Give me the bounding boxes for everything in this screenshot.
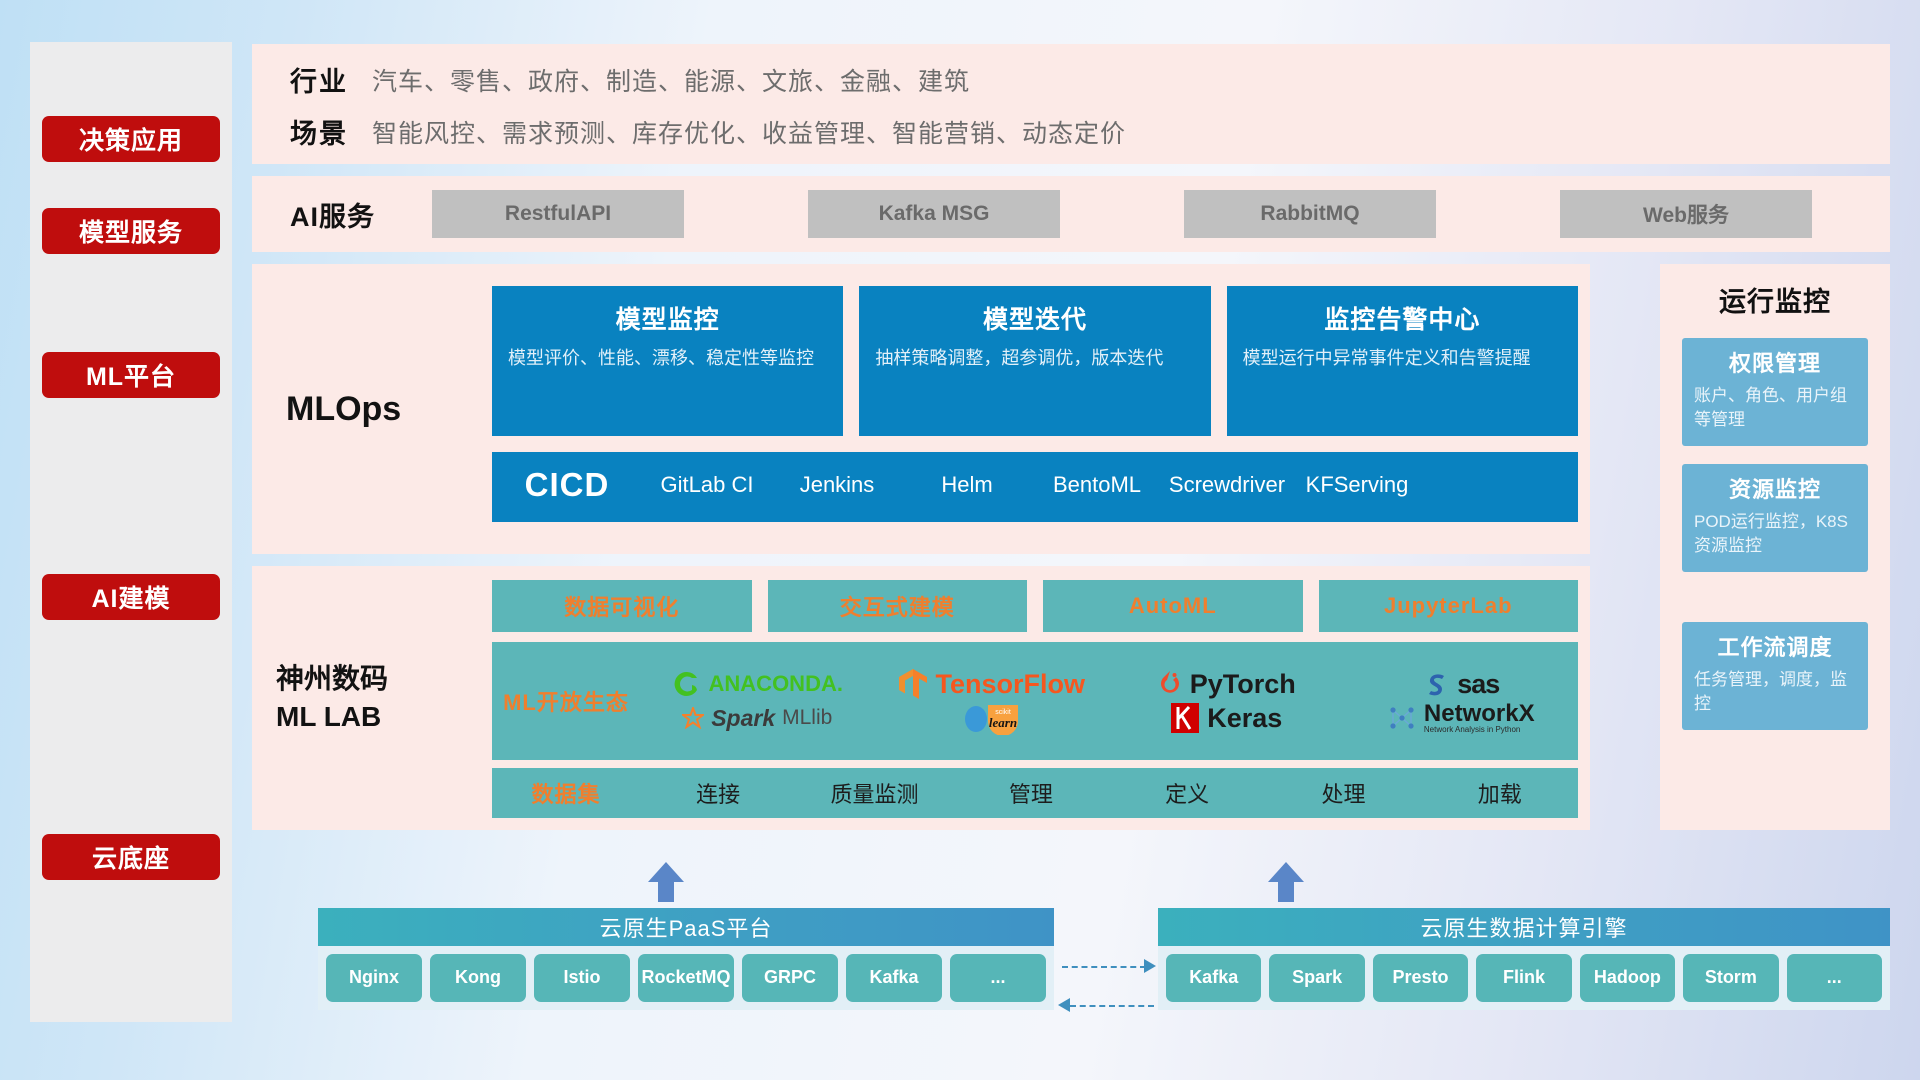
dataset-item-define[interactable]: 定义 [1109,777,1265,809]
industry-row: 行业 汽车、零售、政府、制造、能源、文旅、金融、建筑 [252,60,970,99]
dashed-arrow-head-right [1144,959,1156,973]
dataset-item-quality[interactable]: 质量监测 [796,777,952,809]
tensorflow-logo-text: TensorFlow [935,669,1085,700]
card-title: 模型监控 [508,300,827,336]
svg-text:learn: learn [989,715,1017,730]
card-title: 资源监控 [1694,472,1856,504]
rail-item-model-service[interactable]: 模型服务 [42,208,220,254]
pytorch-logo: PyTorch [1109,669,1344,700]
anaconda-icon [672,669,702,699]
mllib-logo-text: MLlib [782,706,832,730]
runtime-monitoring-title: 运行监控 [1660,264,1890,319]
cloud-chip-kafka[interactable]: Kafka [846,954,942,1002]
data-chip-storm[interactable]: Storm [1683,954,1778,1002]
networkx-logo-text: NetworkX [1424,701,1535,726]
cloud-chip-grpc[interactable]: GRPC [742,954,838,1002]
mlops-label: MLOps [286,264,401,554]
card-title: 权限管理 [1694,346,1856,378]
pytorch-logo-text: PyTorch [1190,669,1296,700]
cloud-data-engine-chip-list: Kafka Spark Presto Flink Hadoop Storm ..… [1158,946,1890,1010]
cloud-chip-rocketmq[interactable]: RocketMQ [638,954,734,1002]
cicd-item-helm[interactable]: Helm [902,452,1032,500]
cloud-paas-chip-list: Nginx Kong Istio RocketMQ GRPC Kafka ... [318,946,1054,1010]
cicd-item-kfserving[interactable]: KFServing [1292,452,1422,500]
cicd-item-bentoml[interactable]: BentoML [1032,452,1162,500]
cloud-chip-istio[interactable]: Istio [534,954,630,1002]
ai-chip-restfulapi[interactable]: RestfulAPI [432,190,684,238]
pytorch-icon [1157,669,1183,699]
dashed-connector-right [1062,966,1146,968]
ml-lab-label: 神州数码 ML LAB [276,566,388,830]
anaconda-logo: ANACONDA. [640,669,875,699]
data-chip-hadoop[interactable]: Hadoop [1580,954,1675,1002]
rail-item-label: 决策应用 [79,121,183,157]
dashed-connector-left [1070,1005,1154,1007]
cicd-row: CICD GitLab CI Jenkins Helm BentoML Scre… [492,452,1578,522]
arrow-shaft [658,876,674,902]
dataset-item-connect[interactable]: 连接 [640,777,796,809]
card-title: 模型迭代 [875,300,1194,336]
cloud-chip-nginx[interactable]: Nginx [326,954,422,1002]
sas-icon [1422,670,1450,698]
cicd-heading: CICD [492,452,642,504]
card-desc: 模型评价、性能、漂移、稳定性等监控 [508,346,827,372]
ml-open-ecosystem-row: ML开放生态 ANACONDA. TensorFlow [492,642,1578,760]
card-desc: POD运行监控，K8S资源监控 [1694,510,1856,558]
cicd-item-screwdriver[interactable]: Screwdriver [1162,452,1292,500]
scenario-row: 场景 智能风控、需求预测、库存优化、收益管理、智能营销、动态定价 [252,112,1126,151]
ml-open-ecosystem-label: ML开放生态 [492,685,640,717]
monitor-card-workflow[interactable]: 工作流调度 任务管理，调度，监控 [1682,622,1868,730]
networkx-icon [1387,704,1417,732]
tensorflow-logo: TensorFlow [875,668,1110,700]
ai-service-chip-list: RestfulAPI Kafka MSG RabbitMQ Web服务 [432,190,1876,238]
cicd-item-gitlab-ci[interactable]: GitLab CI [642,452,772,500]
keras-logo: Keras [1109,702,1344,734]
up-arrow-data-engine [1268,862,1304,908]
lab-tab-jupyterlab[interactable]: JupyterLab [1319,580,1579,632]
data-chip-presto[interactable]: Presto [1373,954,1468,1002]
lab-tab-interactive-modeling[interactable]: 交互式建模 [768,580,1028,632]
ai-chip-kafka-msg[interactable]: Kafka MSG [808,190,1060,238]
industry-value: 汽车、零售、政府、制造、能源、文旅、金融、建筑 [372,62,970,98]
lab-tab-data-visualization[interactable]: 数据可视化 [492,580,752,632]
sas-logo-text: sas [1457,669,1499,700]
keras-icon [1170,702,1200,734]
cloud-paas-title: 云原生PaaS平台 [318,908,1054,946]
decision-apps-band: 行业 汽车、零售、政府、制造、能源、文旅、金融、建筑 场景 智能风控、需求预测、… [252,44,1890,164]
scenario-value: 智能风控、需求预测、库存优化、收益管理、智能营销、动态定价 [372,114,1126,150]
keras-logo-text: Keras [1207,703,1282,734]
rail-item-ai-modeling[interactable]: AI建模 [42,574,220,620]
cicd-item-jenkins[interactable]: Jenkins [772,452,902,500]
cloud-chip-kong[interactable]: Kong [430,954,526,1002]
rail-item-decision-apps[interactable]: 决策应用 [42,116,220,162]
ml-lab-label-line1: 神州数码 [276,660,388,698]
card-desc: 抽样策略调整，超参调优，版本迭代 [875,346,1194,372]
mlops-band: MLOps 模型监控 模型评价、性能、漂移、稳定性等监控 模型迭代 抽样策略调整… [252,264,1590,554]
ai-service-label: AI服务 [290,176,375,252]
card-title: 监控告警中心 [1243,300,1562,336]
monitor-card-permission[interactable]: 权限管理 账户、角色、用户组等管理 [1682,338,1868,446]
monitor-card-resource[interactable]: 资源监控 POD运行监控，K8S资源监控 [1682,464,1868,572]
spark-mllib-logo: Spark MLlib [640,705,875,732]
lab-tab-automl[interactable]: AutoML [1043,580,1303,632]
cloud-native-data-engine-group: 云原生数据计算引擎 Kafka Spark Presto Flink Hadoo… [1158,908,1890,1010]
cloud-data-engine-title: 云原生数据计算引擎 [1158,908,1890,946]
card-desc: 账户、角色、用户组等管理 [1694,384,1856,432]
left-layer-rail: 决策应用 模型服务 ML平台 AI建模 云底座 [30,42,232,1022]
dataset-item-list: 连接 质量监测 管理 定义 处理 加载 [640,777,1578,809]
up-arrow-paas [648,862,684,908]
rail-item-cloud-base[interactable]: 云底座 [42,834,220,880]
rail-item-label: 模型服务 [79,213,183,249]
scikit-learn-logo: scikit learn [875,701,1110,735]
ai-chip-web-service[interactable]: Web服务 [1560,190,1812,238]
mlops-card-alert-center[interactable]: 监控告警中心 模型运行中异常事件定义和告警提醒 [1227,286,1578,436]
dataset-item-manage[interactable]: 管理 [953,777,1109,809]
data-chip-spark[interactable]: Spark [1269,954,1364,1002]
runtime-monitoring-band: 运行监控 权限管理 账户、角色、用户组等管理 资源监控 POD运行监控，K8S资… [1660,264,1890,830]
scikit-learn-icon: scikit learn [962,701,1022,735]
dataset-row: 数据集 连接 质量监测 管理 定义 处理 加载 [492,768,1578,818]
ml-lab-tab-list: 数据可视化 交互式建模 AutoML JupyterLab [492,580,1578,632]
cloud-chip-more[interactable]: ... [950,954,1046,1002]
mlops-card-model-monitoring[interactable]: 模型监控 模型评价、性能、漂移、稳定性等监控 [492,286,843,436]
rail-item-label: ML平台 [86,357,176,393]
data-chip-kafka[interactable]: Kafka [1166,954,1261,1002]
sas-logo: sas [1344,669,1579,700]
tensorflow-icon [898,668,928,700]
mlops-card-list: 模型监控 模型评价、性能、漂移、稳定性等监控 模型迭代 抽样策略调整，超参调优，… [492,286,1578,436]
mlops-card-model-iteration[interactable]: 模型迭代 抽样策略调整，超参调优，版本迭代 [859,286,1210,436]
ml-lab-band: 神州数码 ML LAB 数据可视化 交互式建模 AutoML JupyterLa… [252,566,1590,830]
dataset-item-process[interactable]: 处理 [1265,777,1421,809]
networkx-logo-tagline: Network Analysis in Python [1424,726,1535,734]
card-desc: 模型运行中异常事件定义和告警提醒 [1243,346,1562,372]
data-chip-flink[interactable]: Flink [1476,954,1571,1002]
rail-item-label: AI建模 [91,579,170,615]
ecosystem-logo-grid: ANACONDA. TensorFlow PyTorch [640,667,1578,735]
card-title: 工作流调度 [1694,630,1856,662]
networkx-logo: NetworkX Network Analysis in Python [1344,701,1579,735]
scenario-key: 场景 [252,112,372,151]
rail-item-label: 云底座 [92,839,170,875]
rail-item-ml-platform[interactable]: ML平台 [42,352,220,398]
anaconda-logo-text: ANACONDA. [709,671,843,697]
data-chip-more[interactable]: ... [1787,954,1882,1002]
dashed-arrow-head-left [1058,998,1070,1012]
ai-chip-rabbitmq[interactable]: RabbitMQ [1184,190,1436,238]
arrow-shaft [1278,876,1294,902]
cloud-native-paas-group: 云原生PaaS平台 Nginx Kong Istio RocketMQ GRPC… [318,908,1054,1010]
dataset-item-load[interactable]: 加载 [1422,777,1578,809]
spark-logo-text: Spark [711,705,775,732]
card-desc: 任务管理，调度，监控 [1694,668,1856,716]
dataset-label: 数据集 [492,777,640,809]
industry-key: 行业 [252,60,372,99]
spark-star-icon [682,707,704,729]
ml-lab-label-line2: ML LAB [276,698,388,736]
ai-service-band: AI服务 RestfulAPI Kafka MSG RabbitMQ Web服务 [252,176,1890,252]
